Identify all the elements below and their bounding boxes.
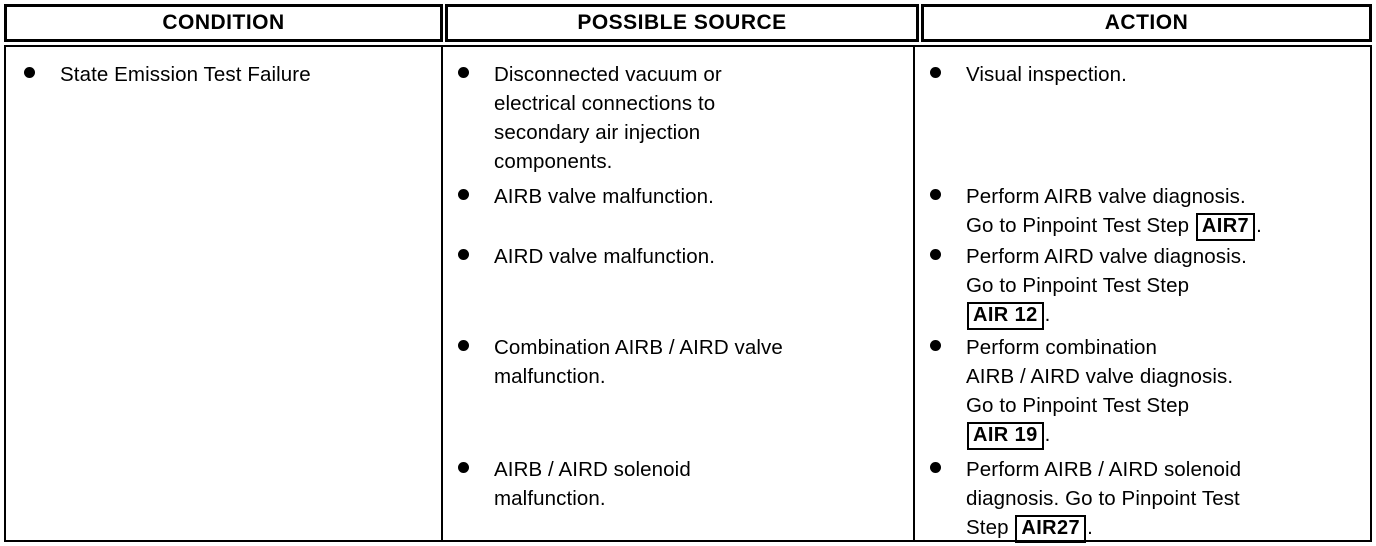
bullet-icon — [930, 340, 941, 351]
table-header-row: CONDITION POSSIBLE SOURCE ACTION — [4, 4, 1372, 42]
list-item: Visual inspection. — [930, 60, 1360, 89]
action-text: Visual inspection. — [966, 60, 1127, 89]
list-item: Disconnected vacuum or electrical connec… — [458, 60, 898, 176]
column-header-possible-source-label: POSSIBLE SOURCE — [577, 11, 786, 35]
bullet-icon — [458, 462, 469, 473]
bullet-icon — [930, 189, 941, 200]
bullet-icon — [458, 67, 469, 78]
bullet-icon — [930, 67, 941, 78]
cell-possible-source: Disconnected vacuum or electrical connec… — [443, 47, 915, 540]
pinpoint-test-step-code: AIR7 — [1196, 213, 1255, 241]
pinpoint-test-step-code: AIR 12 — [967, 302, 1044, 330]
column-header-condition-label: CONDITION — [162, 11, 284, 35]
column-header-action: ACTION — [921, 4, 1372, 42]
list-item-label: AIRB / AIRD solenoid malfunction. — [494, 455, 691, 513]
list-item: Perform AIRB valve diagnosis.Go to Pinpo… — [930, 182, 1360, 241]
list-item: AIRD valve malfunction. — [458, 242, 898, 271]
column-header-possible-source: POSSIBLE SOURCE — [445, 4, 919, 42]
table-body-row: State Emission Test Failure Disconnected… — [4, 45, 1372, 542]
bullet-icon — [458, 340, 469, 351]
list-item-label: AIRD valve malfunction. — [494, 242, 715, 271]
column-header-action-label: ACTION — [1105, 11, 1189, 35]
action-text: Perform AIRB valve diagnosis.Go to Pinpo… — [966, 182, 1262, 241]
bullet-icon — [930, 462, 941, 473]
list-item: Perform AIRB / AIRD solenoiddiagnosis. G… — [930, 455, 1360, 543]
bullet-icon — [930, 249, 941, 260]
list-item: AIRB valve malfunction. — [458, 182, 898, 211]
list-item: Perform AIRD valve diagnosis.Go to Pinpo… — [930, 242, 1360, 330]
diagnostic-table: CONDITION POSSIBLE SOURCE ACTION State E… — [0, 0, 1376, 546]
cell-action: Visual inspection. Perform AIRB valve di… — [915, 47, 1370, 540]
list-item-label: State Emission Test Failure — [60, 60, 311, 89]
list-item-label: Combination AIRB / AIRD valve malfunctio… — [494, 333, 783, 391]
list-item: AIRB / AIRD solenoid malfunction. — [458, 455, 898, 513]
bullet-icon — [458, 249, 469, 260]
bullet-icon — [24, 67, 35, 78]
bullet-icon — [458, 189, 469, 200]
list-item: Combination AIRB / AIRD valve malfunctio… — [458, 333, 903, 391]
list-item-label: Disconnected vacuum or electrical connec… — [494, 60, 722, 176]
action-text: Perform AIRD valve diagnosis.Go to Pinpo… — [966, 242, 1247, 330]
action-text: Perform AIRB / AIRD solenoiddiagnosis. G… — [966, 455, 1241, 543]
action-text: Perform combinationAIRB / AIRD valve dia… — [966, 333, 1233, 450]
cell-condition: State Emission Test Failure — [6, 47, 443, 540]
pinpoint-test-step-code: AIR 19 — [967, 422, 1044, 450]
list-item: State Emission Test Failure — [24, 60, 424, 89]
list-item-label: AIRB valve malfunction. — [494, 182, 714, 211]
pinpoint-test-step-code: AIR27 — [1015, 515, 1086, 543]
list-item: Perform combinationAIRB / AIRD valve dia… — [930, 333, 1360, 450]
column-header-condition: CONDITION — [4, 4, 443, 42]
